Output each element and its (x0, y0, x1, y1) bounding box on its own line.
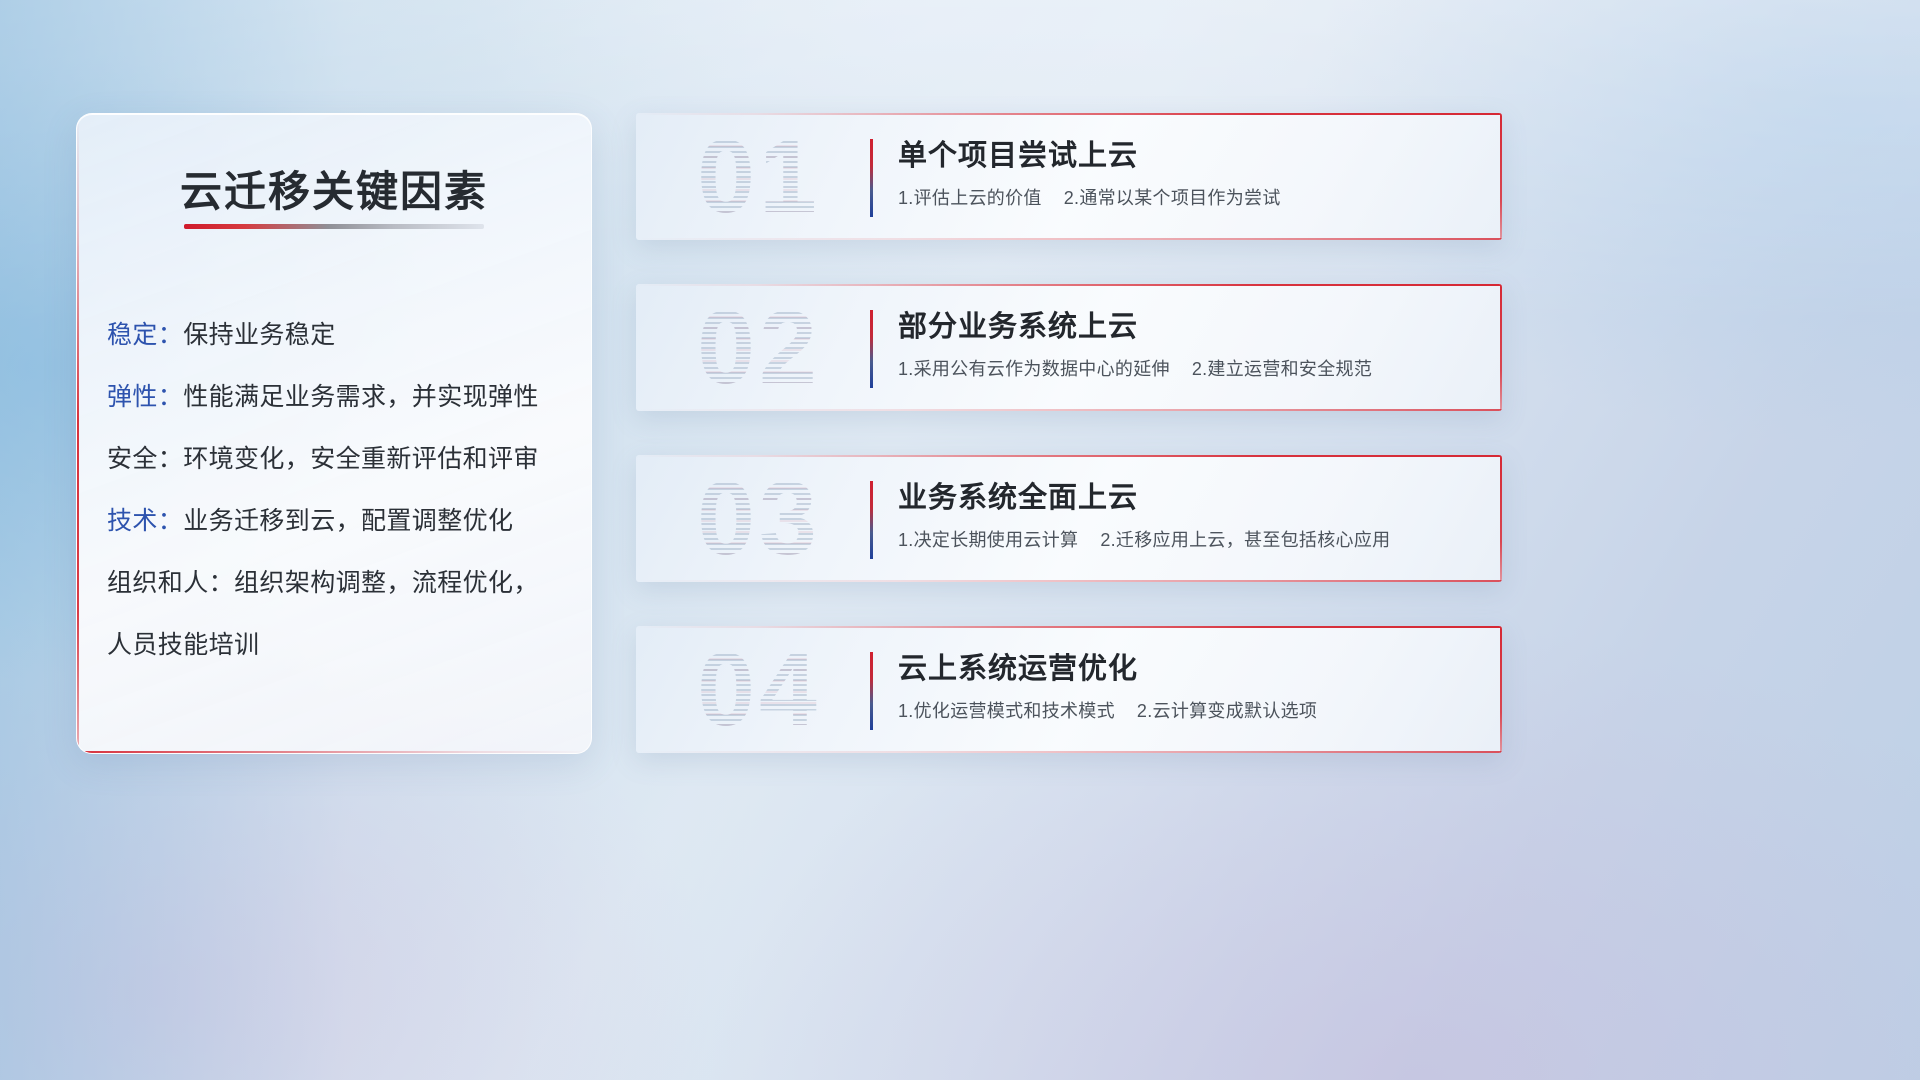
step-point-2: 2.建立运营和安全规范 (1192, 359, 1372, 379)
list-item: 稳定：保持业务稳定 (107, 304, 569, 366)
slide-canvas: 云迁移关键因素 稳定：保持业务稳定 弹性：性能满足业务需求，并实现弹性 安全：环… (0, 0, 1920, 1080)
page-title: 云迁移关键因素 (77, 158, 591, 219)
step-point-2: 2.云计算变成默认选项 (1137, 701, 1317, 721)
step-divider-bar (870, 652, 873, 730)
step-title: 部分业务系统上云 (898, 306, 1478, 348)
panel-bottom-accent-line (77, 751, 591, 753)
step-title: 单个项目尝试上云 (898, 135, 1478, 177)
step-number-watermark-overlay: 03 (664, 463, 854, 575)
step-card[interactable]: 02 02 部分业务系统上云 1.采用公有云作为数据中心的延伸2.建立运营和安全… (636, 284, 1502, 411)
step-bottom-accent-line (636, 238, 1502, 240)
step-number-watermark-overlay: 01 (664, 121, 854, 233)
step-point-2: 2.通常以某个项目作为尝试 (1064, 188, 1281, 208)
step-point-1: 1.评估上云的价值 (898, 188, 1042, 208)
key-factors-panel: 云迁移关键因素 稳定：保持业务稳定 弹性：性能满足业务需求，并实现弹性 安全：环… (76, 113, 592, 754)
step-bottom-accent-line (636, 409, 1502, 411)
step-card[interactable]: 01 01 单个项目尝试上云 1.评估上云的价值2.通常以某个项目作为尝试 (636, 113, 1502, 240)
title-underline-rule (184, 224, 484, 229)
step-body: 单个项目尝试上云 1.评估上云的价值2.通常以某个项目作为尝试 (898, 135, 1478, 211)
list-item-text: 环境变化，安全重新评估和评审 (183, 445, 539, 473)
list-item-text: 业务迁移到云，配置调整优化 (183, 507, 513, 535)
key-factors-list: 稳定：保持业务稳定 弹性：性能满足业务需求，并实现弹性 安全：环境变化，安全重新… (107, 304, 569, 676)
list-item-key: 安全： (107, 445, 183, 473)
step-description: 1.优化运营模式和技术模式2.云计算变成默认选项 (898, 698, 1478, 724)
step-body: 云上系统运营优化 1.优化运营模式和技术模式2.云计算变成默认选项 (898, 648, 1478, 724)
list-item-continuation: 人员技能培训 (107, 614, 569, 676)
step-body: 业务系统全面上云 1.决定长期使用云计算2.迁移应用上云，甚至包括核心应用 (898, 477, 1478, 553)
list-item-text: 保持业务稳定 (183, 321, 335, 349)
list-item-key: 稳定： (107, 321, 183, 349)
step-point-1: 1.优化运营模式和技术模式 (898, 701, 1115, 721)
step-number-watermark: 03 (664, 463, 854, 575)
step-point-1: 1.采用公有云作为数据中心的延伸 (898, 359, 1170, 379)
step-number-watermark: 02 (664, 292, 854, 404)
step-description: 1.评估上云的价值2.通常以某个项目作为尝试 (898, 185, 1478, 211)
list-item-text: 性能满足业务需求，并实现弹性 (183, 383, 539, 411)
list-item: 组织和人：组织架构调整，流程优化， (107, 552, 569, 614)
step-number-watermark: 04 (664, 634, 854, 746)
step-title: 云上系统运营优化 (898, 648, 1478, 690)
step-card[interactable]: 04 04 云上系统运营优化 1.优化运营模式和技术模式2.云计算变成默认选项 (636, 626, 1502, 753)
step-number-watermark-overlay: 04 (664, 634, 854, 746)
step-divider-bar (870, 481, 873, 559)
step-point-1: 1.决定长期使用云计算 (898, 530, 1078, 550)
step-card[interactable]: 03 03 业务系统全面上云 1.决定长期使用云计算2.迁移应用上云，甚至包括核… (636, 455, 1502, 582)
step-number-watermark: 01 (664, 121, 854, 233)
list-item-key: 弹性： (107, 383, 183, 411)
list-item-text: 组织架构调整，流程优化， (234, 569, 539, 597)
step-bottom-accent-line (636, 751, 1502, 753)
list-item: 技术：业务迁移到云，配置调整优化 (107, 490, 569, 552)
step-divider-bar (870, 310, 873, 388)
migration-steps-list: 01 01 单个项目尝试上云 1.评估上云的价值2.通常以某个项目作为尝试 02… (636, 113, 1502, 797)
step-bottom-accent-line (636, 580, 1502, 582)
list-item: 弹性：性能满足业务需求，并实现弹性 (107, 366, 569, 428)
list-item-text: 人员技能培训 (107, 631, 259, 659)
step-description: 1.决定长期使用云计算2.迁移应用上云，甚至包括核心应用 (898, 527, 1478, 553)
step-description: 1.采用公有云作为数据中心的延伸2.建立运营和安全规范 (898, 356, 1478, 382)
step-point-2: 2.迁移应用上云，甚至包括核心应用 (1100, 530, 1390, 550)
step-number-watermark-overlay: 02 (664, 292, 854, 404)
list-item: 安全：环境变化，安全重新评估和评审 (107, 428, 569, 490)
step-divider-bar (870, 139, 873, 217)
list-item-key: 组织和人： (107, 569, 234, 597)
step-body: 部分业务系统上云 1.采用公有云作为数据中心的延伸2.建立运营和安全规范 (898, 306, 1478, 382)
list-item-key: 技术： (107, 507, 183, 535)
step-title: 业务系统全面上云 (898, 477, 1478, 519)
